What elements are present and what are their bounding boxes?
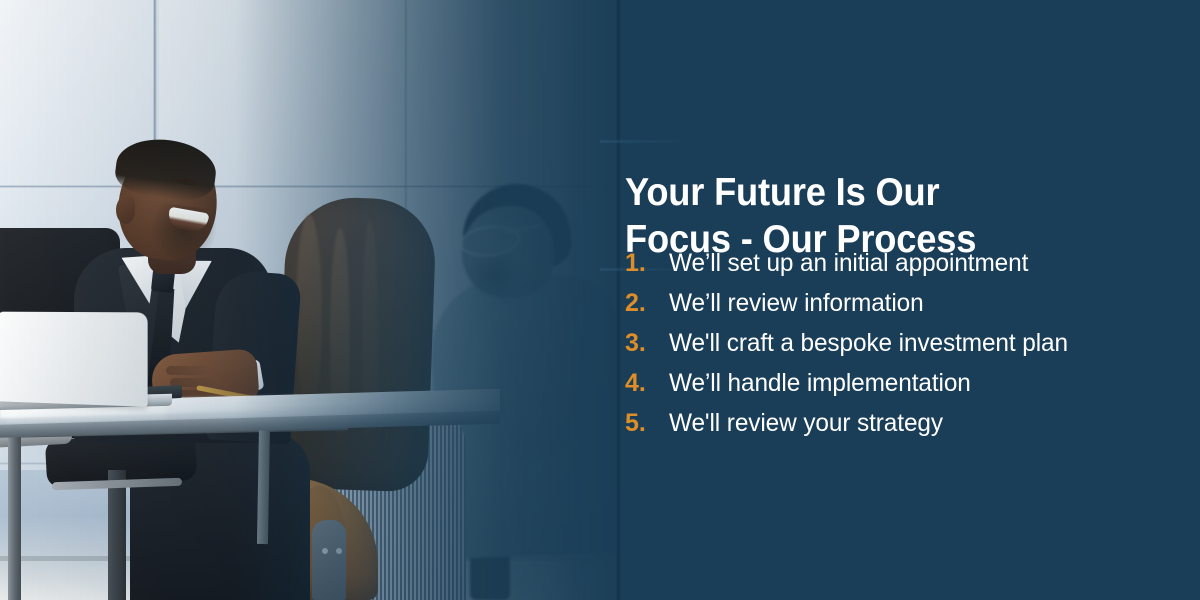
step-label: We'll craft a bespoke investment plan — [669, 323, 1068, 363]
list-item: 4. We’ll handle implementation — [625, 363, 1170, 403]
desk-leg — [257, 424, 270, 544]
step-label: We’ll set up an initial appointment — [669, 243, 1028, 283]
chair-screw — [322, 548, 328, 554]
wall-seam-horizontal — [0, 185, 660, 188]
chair-metal-bracket — [312, 520, 346, 600]
promo-banner: Your Future Is Our Focus - Our Process 1… — [0, 0, 1200, 600]
step-number: 3. — [625, 323, 669, 363]
text-panel: Your Future Is Our Focus - Our Process 1… — [625, 0, 1185, 600]
beard — [466, 252, 524, 300]
step-label: We’ll review information — [669, 283, 924, 323]
step-label: We’ll handle implementation — [669, 363, 971, 403]
list-item: 5. We'll review your strategy — [625, 403, 1170, 443]
step-number: 5. — [625, 403, 669, 443]
chair-screw — [336, 548, 342, 554]
step-number: 2. — [625, 283, 669, 323]
laptop-lid — [0, 312, 148, 407]
desk-leg — [8, 424, 21, 600]
step-label: We'll review your strategy — [669, 403, 943, 443]
ear — [116, 196, 135, 224]
list-item: 2. We’ll review information — [625, 283, 1170, 323]
hair-strand — [296, 214, 322, 414]
finger — [166, 366, 210, 375]
list-item: 3. We'll craft a bespoke investment plan — [625, 323, 1170, 363]
office-chair-post — [108, 470, 126, 600]
step-number: 4. — [625, 363, 669, 403]
shirt-fold — [470, 300, 590, 460]
step-number: 1. — [625, 243, 669, 283]
process-steps-list: 1. We’ll set up an initial appointment 2… — [625, 243, 1170, 443]
list-item: 1. We’ll set up an initial appointment — [625, 243, 1170, 283]
